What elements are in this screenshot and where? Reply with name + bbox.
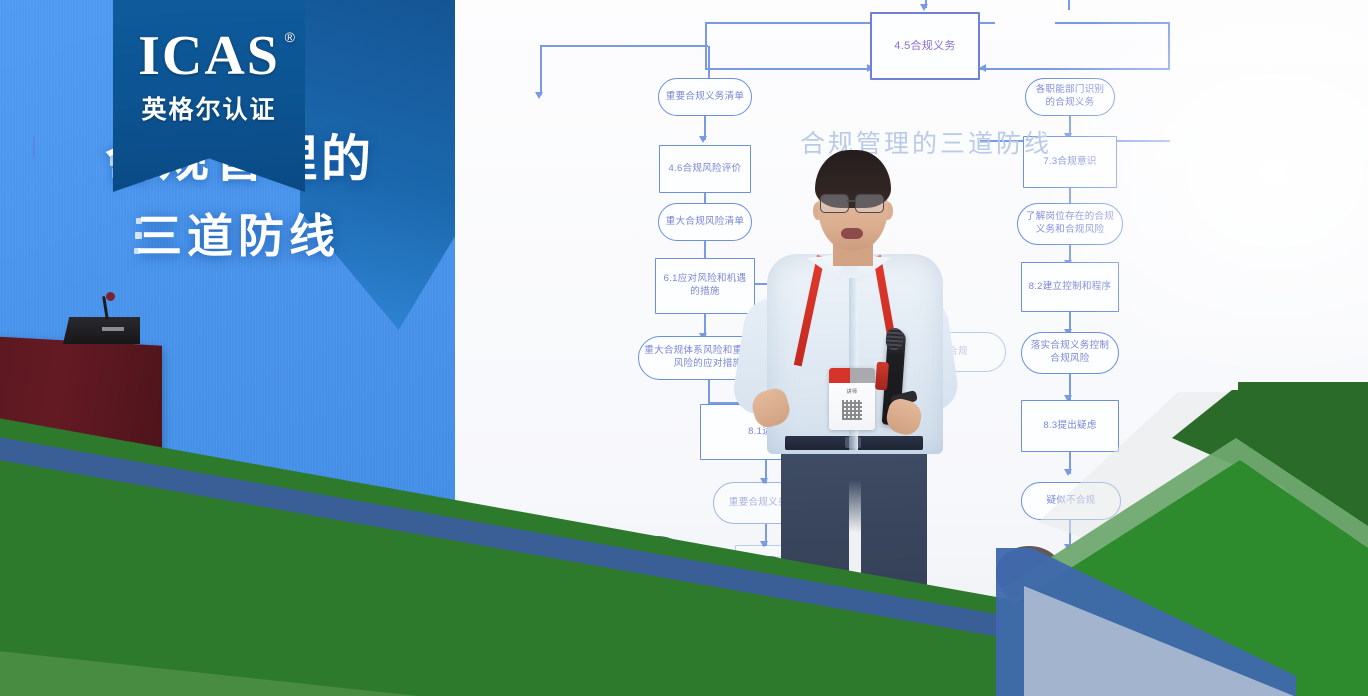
speaker-name-badge: 讲师	[829, 368, 875, 430]
speaker-figure: 讲师	[745, 150, 995, 620]
flow-node-right-3: 了解岗位存在的合规义务和合规风险	[1017, 203, 1123, 245]
badge-name-text: 讲师	[829, 388, 875, 395]
speaker-eyeglass-right	[855, 194, 884, 213]
flow-node-center: 4.5合规义务	[870, 12, 980, 80]
flow-node-right-1: 各职能部门识别的合规义务	[1025, 78, 1115, 116]
flow-node-left-1: 重要合规义务清单	[658, 78, 752, 116]
icas-wordmark-text: ICAS	[138, 25, 280, 87]
flow-node-right-4: 8.2建立控制和程序	[1021, 262, 1119, 312]
speaker-eyeglass-bridge	[847, 200, 855, 202]
icas-wordmark: ICAS ®	[138, 28, 280, 84]
wall-title-line-2: 三道防线	[88, 202, 388, 264]
registered-trademark-icon: ®	[285, 30, 295, 44]
speaker-eyeglass-left	[820, 194, 849, 213]
flow-node-right-6: 8.3提出疑虑	[1021, 400, 1119, 452]
podium-nameplate	[102, 327, 124, 331]
flow-node-right-5: 落实合规义务控制合规风险	[1021, 332, 1119, 374]
speaker-mouth	[841, 228, 863, 239]
microphone-red-band	[875, 362, 889, 391]
icas-chinese-name: 英格尔认证	[141, 90, 276, 126]
podium-microphone-head	[106, 292, 115, 301]
flow-node-left-2: 4.6合规风险评价	[659, 145, 751, 193]
flow-node-left-3: 重大合规风险清单	[658, 203, 752, 241]
badge-header-stripe	[829, 368, 875, 383]
screenshot-root: 合规管理的 三道防线 ICAS ® 英格尔认证 4.5合规义务	[0, 0, 1368, 696]
flow-node-left-4: 6.1应对风险和机遇的措施	[655, 258, 755, 314]
qr-code-icon	[842, 400, 862, 420]
